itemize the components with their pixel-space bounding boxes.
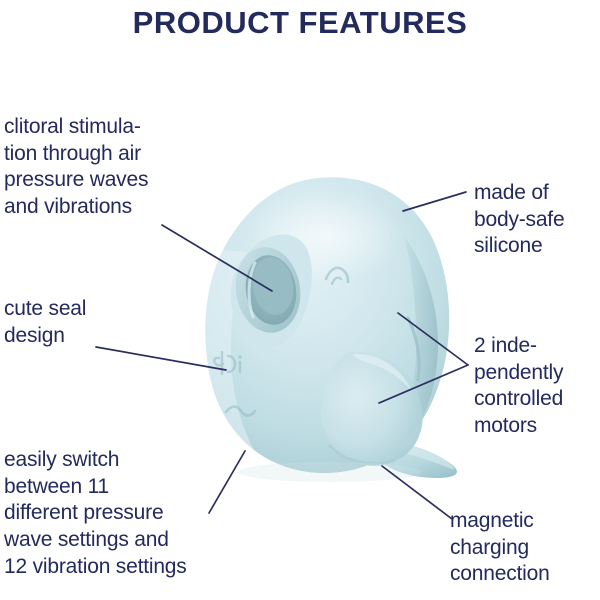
- leader-lines: [0, 0, 600, 600]
- product-features-infographic: PRODUCT FEATURES: [0, 0, 600, 600]
- leader-line-silicone: [403, 192, 466, 211]
- leader-line-stimulation: [162, 225, 272, 291]
- leader-line-settings: [209, 451, 245, 513]
- leader-line-magnetic: [382, 466, 452, 519]
- leader-line-motors: [379, 313, 468, 403]
- leader-line-seal-design: [96, 347, 226, 370]
